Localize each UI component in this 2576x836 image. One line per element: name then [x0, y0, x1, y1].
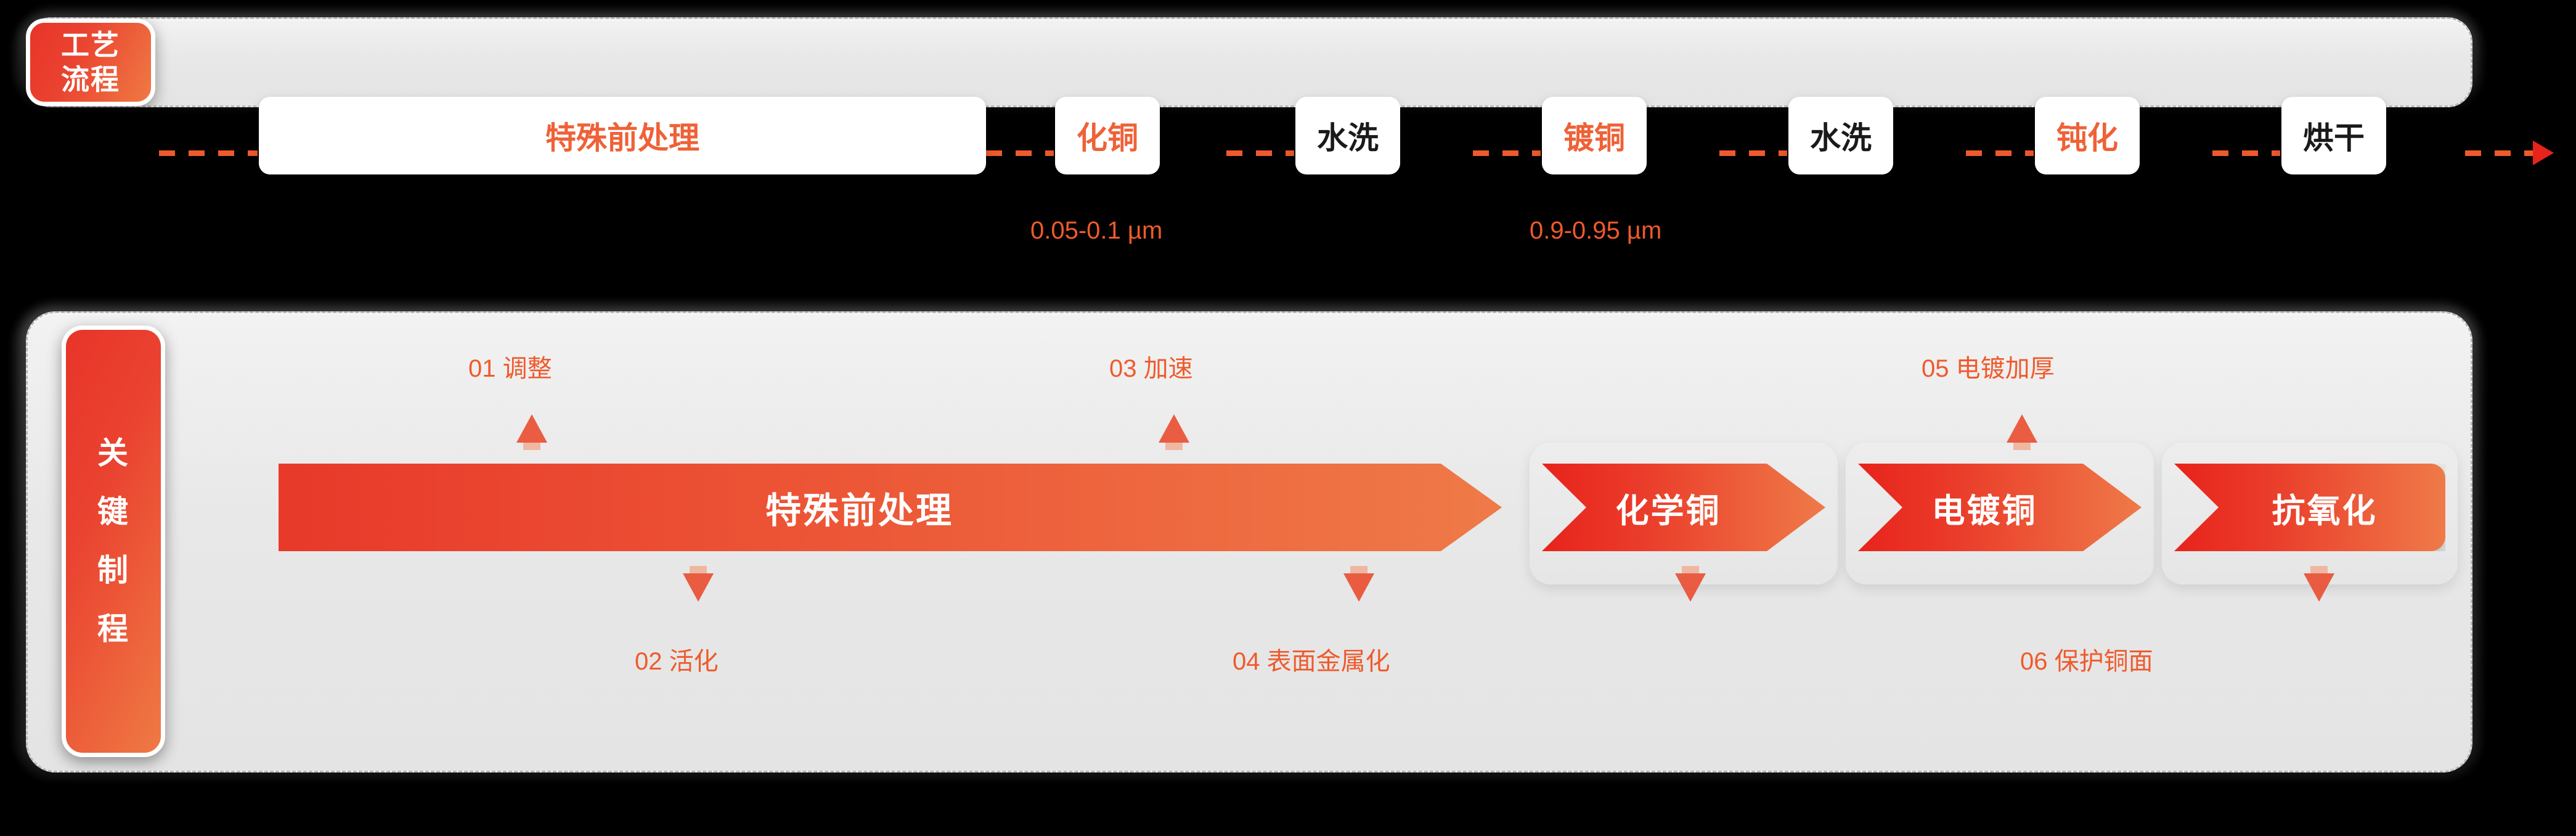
key-stage-label-3: 抗氧化 [2272, 483, 2378, 532]
key-marker-bottom-label-0: 02 活化 [635, 641, 719, 677]
key-marker-bottom-arrow-icon-1 [1343, 573, 1374, 602]
process-step-label-4: 水洗 [1810, 113, 1872, 158]
key-marker-top-label-0: 01 调整 [468, 348, 552, 384]
badge-line-2: 流程 [61, 64, 120, 96]
process-step-card-1[interactable]: 化铜 [1055, 97, 1160, 174]
process-step-label-6: 烘干 [2303, 113, 2365, 158]
key-marker-top-arrow-icon-1 [1159, 414, 1189, 443]
key-stage-label-0: 特殊前处理 [765, 482, 953, 533]
process-connector-2 [1226, 150, 1294, 156]
process-thickness-note-1: 0.05-0.1 µm [1030, 217, 1162, 245]
process-step-label-1: 化铜 [1077, 113, 1138, 158]
process-thickness-note-3: 0.9-0.95 µm [1530, 217, 1661, 245]
key-marker-top-arrow-icon-2 [2007, 414, 2037, 443]
diagram-canvas: 工艺流程 特殊前处理 化铜 水洗 镀铜 水洗 钝化 烘干 0.05-0.1 µm… [0, 0, 2576, 836]
process-step-card-6[interactable]: 烘干 [2281, 97, 2386, 174]
key-stage-bar-0[interactable]: 特殊前处理 [279, 464, 1502, 551]
process-row-badge[interactable]: 工艺流程 [26, 18, 155, 106]
badge-char-1: 键 [97, 494, 129, 529]
process-step-card-3[interactable]: 镀铜 [1542, 97, 1647, 174]
process-connector-6 [2212, 150, 2280, 156]
process-connector-5 [1966, 150, 2034, 156]
key-marker-bottom-label-1: 04 表面金属化 [1233, 641, 1390, 677]
key-marker-bottom-arrow-icon-3 [2304, 573, 2334, 602]
process-connector-4 [1719, 150, 1787, 156]
key-marker-bottom-arrow-icon-0 [683, 573, 714, 602]
process-step-card-0[interactable]: 特殊前处理 [259, 97, 986, 174]
badge-char-2: 制 [97, 553, 129, 588]
key-marker-bottom-arrow-icon-2 [1675, 573, 1706, 602]
key-process-row-badge[interactable]: 关键制程 [62, 326, 165, 757]
badge-char-3: 程 [97, 612, 129, 646]
process-step-card-2[interactable]: 水洗 [1295, 97, 1400, 174]
process-step-card-5[interactable]: 钝化 [2035, 97, 2140, 174]
process-connector-3 [1473, 150, 1541, 156]
process-step-label-2: 水洗 [1317, 113, 1379, 158]
process-flow-end-arrow-icon [2533, 141, 2554, 165]
process-row-panel [26, 17, 2472, 107]
process-row-badge-label: 工艺流程 [61, 28, 120, 97]
process-step-label-0: 特殊前处理 [545, 113, 699, 158]
key-marker-top-arrow-icon-0 [516, 414, 547, 443]
process-step-label-5: 钝化 [2056, 113, 2118, 158]
process-connector-7 [2465, 150, 2533, 156]
key-marker-bottom-label-2: 06 保护铜面 [2020, 641, 2153, 677]
key-stage-label-2: 电镀铜 [1932, 483, 2037, 532]
key-process-badge-label: 关键制程 [97, 424, 129, 658]
badge-line-1: 工艺 [61, 29, 120, 61]
key-marker-top-label-2: 05 电镀加厚 [1922, 348, 2055, 384]
key-marker-top-label-1: 03 加速 [1109, 348, 1193, 384]
badge-char-0: 关 [97, 436, 129, 470]
process-step-card-4[interactable]: 水洗 [1788, 97, 1893, 174]
process-connector-1 [986, 150, 1054, 156]
key-stage-label-1: 化学铜 [1616, 483, 1721, 532]
process-connector-0 [159, 150, 258, 156]
process-step-label-3: 镀铜 [1563, 113, 1625, 158]
